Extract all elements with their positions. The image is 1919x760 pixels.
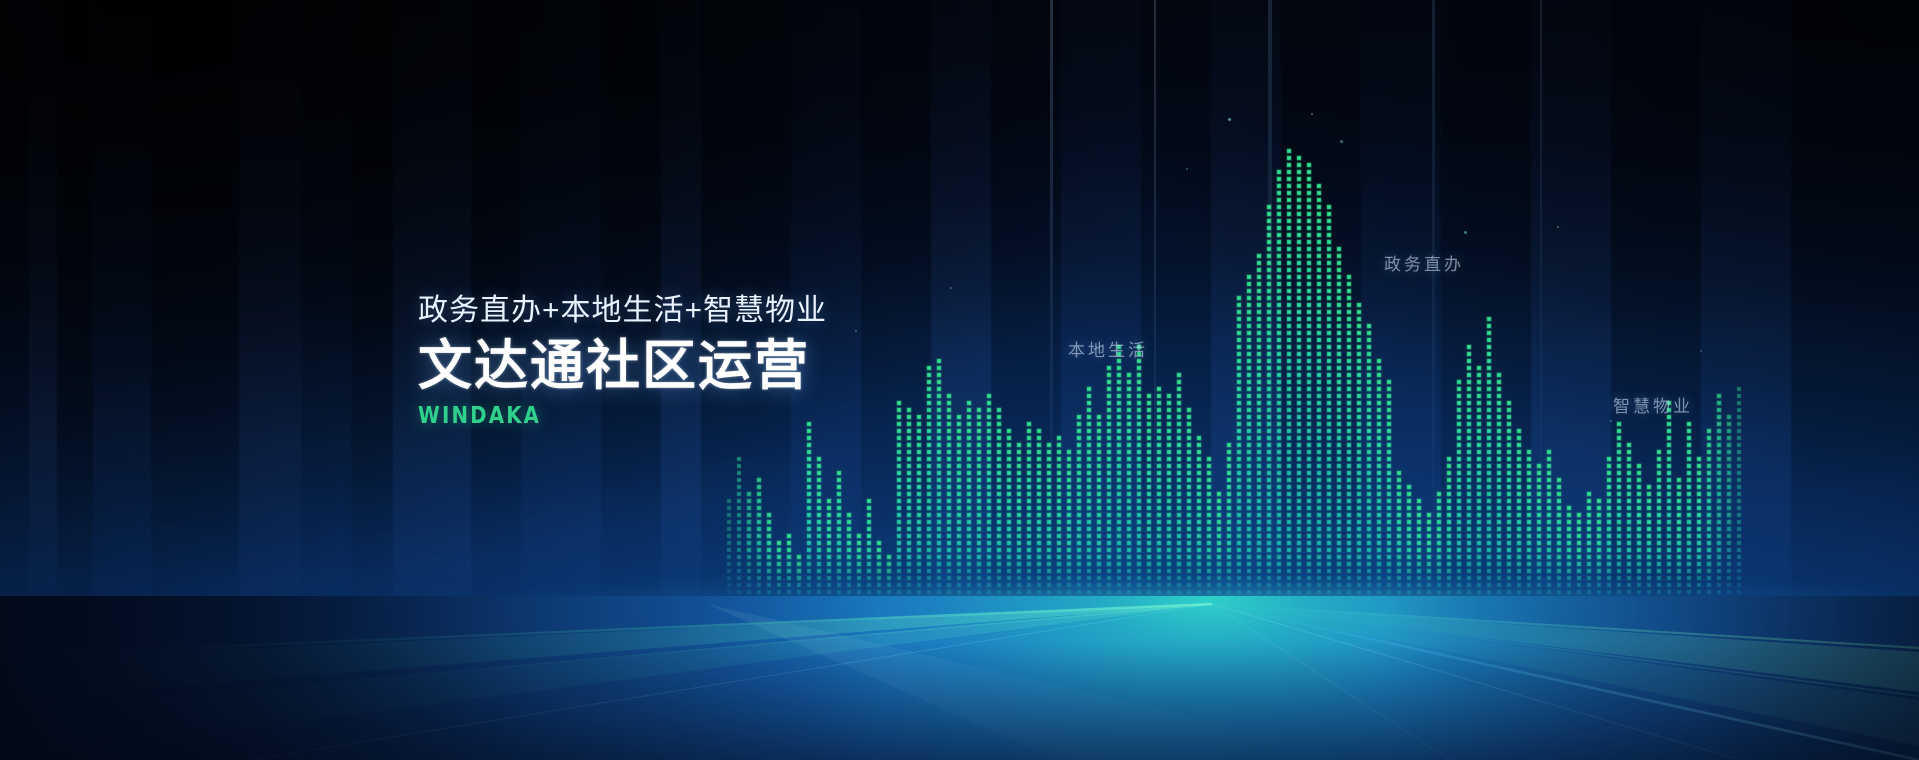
perspective-floor — [0, 596, 1919, 760]
brand-wordmark: WINDAKA — [418, 403, 770, 429]
chart-label-government: 政务直办 — [1384, 250, 1464, 275]
promo-banner: 政务直办 本地生活 智慧物业 政务直办+本地生活+智慧物业 文达通社区运营 WI… — [0, 0, 1919, 760]
chart-label-smart-property: 智慧物业 — [1613, 392, 1693, 417]
chart-label-local-life: 本地生活 — [1068, 336, 1148, 361]
banner-subtitle: 政务直办+本地生活+智慧物业 — [418, 292, 827, 330]
floor-shading — [0, 596, 1919, 760]
headline-group: 政务直办+本地生活+智慧物业 文达通社区运营 WINDAKA — [418, 292, 827, 429]
banner-title: 文达通社区运营 — [418, 336, 827, 396]
